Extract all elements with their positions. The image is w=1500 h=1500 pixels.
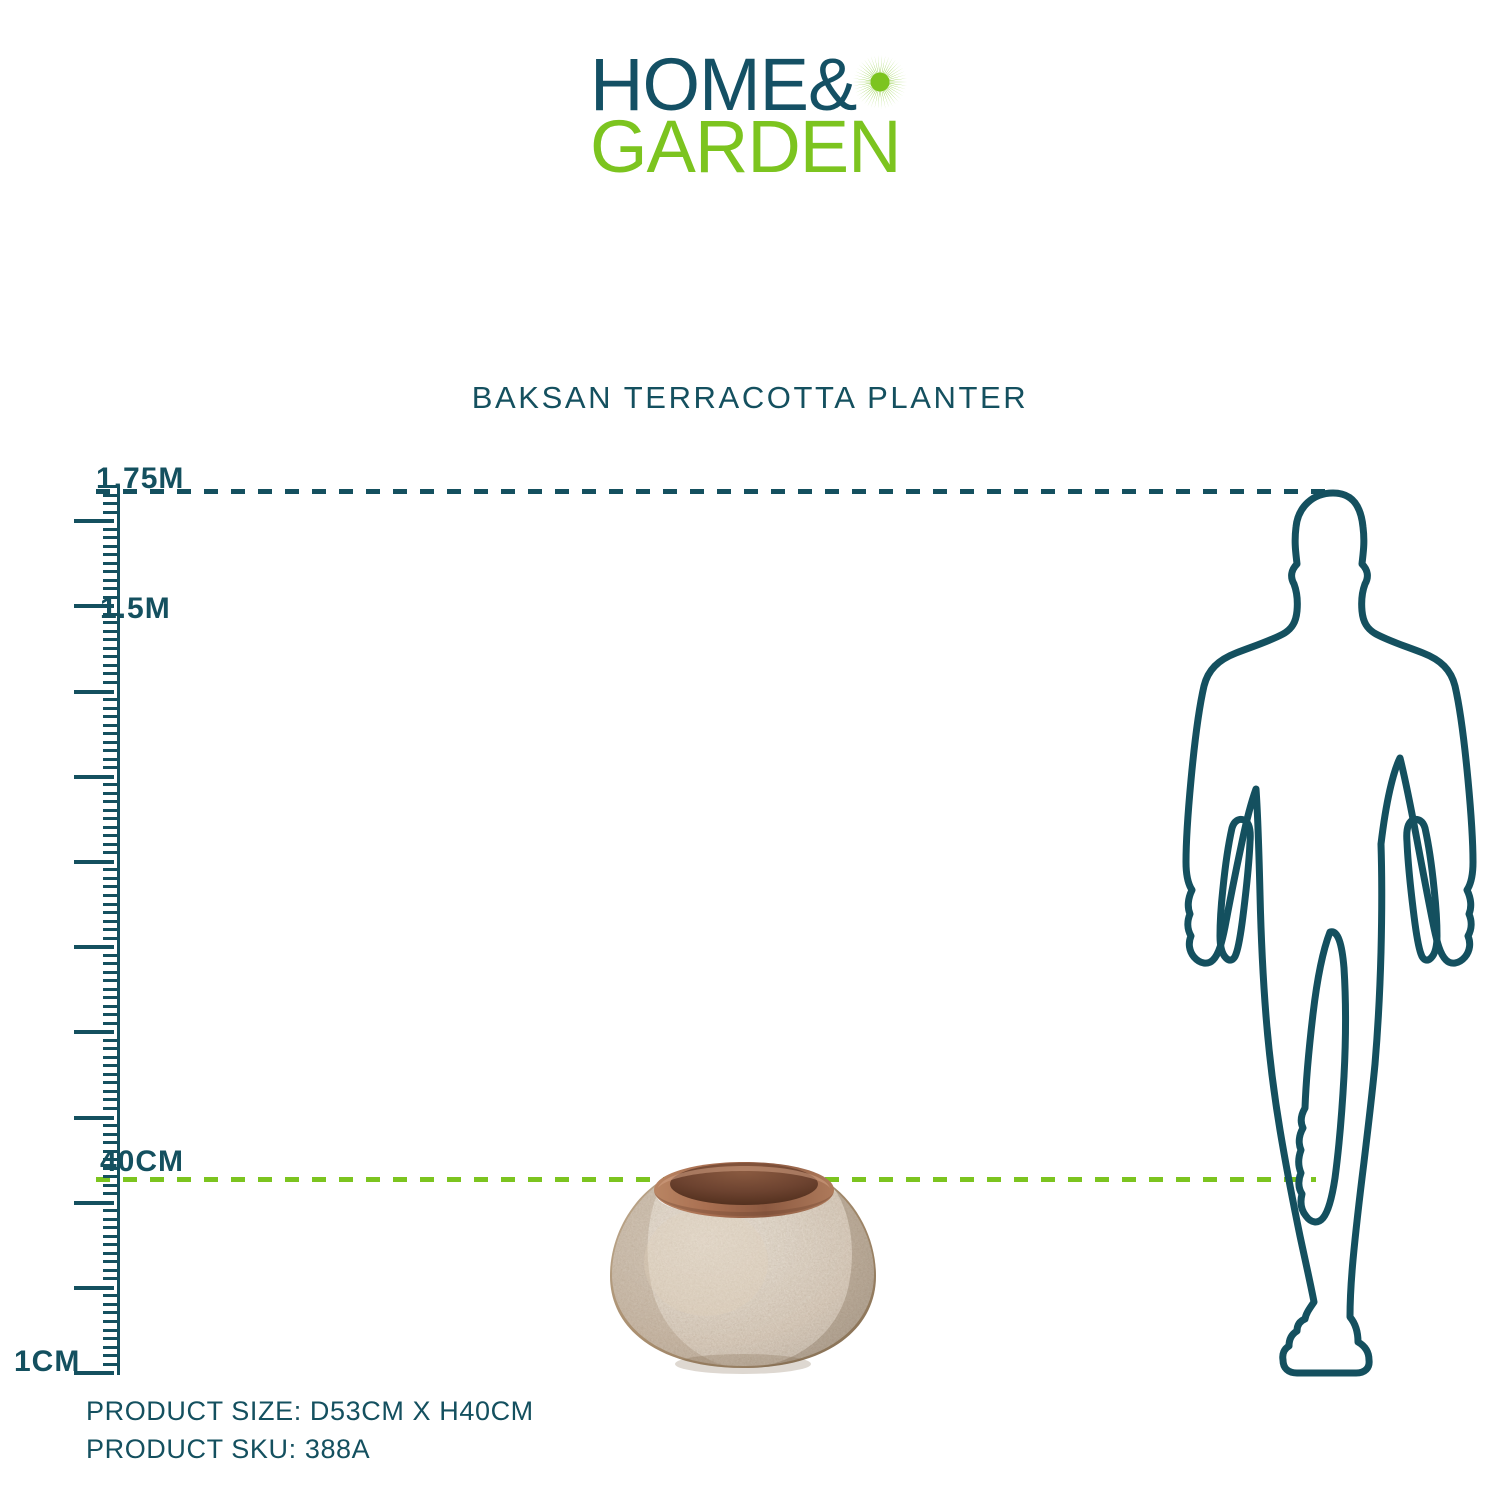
brand-name-garden: GARDEN	[590, 110, 901, 184]
ruler-tick	[103, 809, 120, 812]
ruler-tick	[103, 732, 120, 735]
ruler-tick	[103, 1013, 120, 1016]
ruler-tick	[103, 1260, 120, 1263]
ruler-tick	[103, 928, 120, 931]
ruler-tick	[103, 707, 120, 710]
ruler-tick	[103, 553, 120, 556]
product-size-text: PRODUCT SIZE: D53CM X H40CM	[86, 1392, 534, 1430]
ruler-tick	[103, 877, 120, 880]
ruler-tick	[103, 1354, 120, 1357]
ruler-tick	[103, 536, 120, 539]
ruler-tick	[103, 1329, 120, 1332]
ruler-tick	[103, 528, 120, 531]
ruler-label-40cm: 40CM	[100, 1145, 184, 1179]
ruler-tick	[103, 741, 120, 744]
ruler-tick	[103, 1209, 120, 1212]
ruler-tick	[103, 1073, 120, 1076]
ruler-tick	[103, 1294, 120, 1297]
ruler-tick	[74, 1030, 114, 1034]
ruler-tick	[74, 519, 114, 523]
ruler-tick	[103, 1192, 120, 1195]
ruler-label-1cm: 1CM	[14, 1345, 80, 1379]
ruler-tick	[103, 502, 120, 505]
ruler-tick	[103, 1277, 120, 1280]
ruler-tick	[103, 971, 120, 974]
ruler-tick	[103, 638, 120, 641]
ruler-tick	[103, 1320, 120, 1323]
ruler-tick	[103, 630, 120, 633]
ruler-tick	[103, 903, 120, 906]
ruler-tick	[103, 1107, 120, 1110]
ruler-tick	[103, 937, 120, 940]
ruler-tick	[103, 1056, 120, 1059]
ruler-tick	[103, 749, 120, 752]
ruler-tick	[74, 1286, 114, 1290]
ruler-tick	[103, 587, 120, 590]
ruler-tick	[103, 766, 120, 769]
ruler-tick	[103, 843, 120, 846]
ruler-tick	[103, 758, 120, 761]
ruler-tick	[103, 1184, 120, 1187]
ruler-tick	[103, 826, 120, 829]
human-scale-silhouette	[1170, 480, 1500, 1385]
ruler-tick	[103, 681, 120, 684]
ruler-tick	[74, 1201, 114, 1205]
ruler-tick	[103, 1243, 120, 1246]
planter-rim	[654, 1162, 834, 1218]
ruler-tick	[103, 920, 120, 923]
ruler-tick	[103, 1064, 120, 1067]
page-title: BAKSAN TERRACOTTA PLANTER	[0, 380, 1500, 416]
ruler-tick	[103, 1124, 120, 1127]
ruler-tick	[103, 511, 120, 514]
ruler-tick	[103, 1022, 120, 1025]
baksan-terracotta-planter	[598, 1150, 888, 1382]
ruler-tick	[103, 724, 120, 727]
product-details: PRODUCT SIZE: D53CM X H40CM PRODUCT SKU:…	[86, 1392, 534, 1468]
ruler-tick	[103, 672, 120, 675]
ruler-tick	[103, 715, 120, 718]
ruler-tick	[103, 1235, 120, 1238]
ruler-tick	[103, 647, 120, 650]
ruler-tick	[103, 1252, 120, 1255]
ruler-tick	[103, 1346, 120, 1349]
ruler-tick	[103, 834, 120, 837]
starburst-icon	[852, 54, 908, 110]
ruler-tick	[103, 1218, 120, 1221]
ruler-tick	[103, 996, 120, 999]
ruler-tick	[103, 698, 120, 701]
ruler-tick	[103, 954, 120, 957]
ruler-tick	[103, 664, 120, 667]
brand-logo: HOME& GARDEN	[590, 48, 930, 196]
ruler-tick	[103, 655, 120, 658]
ruler-tick	[103, 885, 120, 888]
product-sku-text: PRODUCT SKU: 388A	[86, 1430, 534, 1468]
ruler-tick	[103, 911, 120, 914]
ruler-tick	[74, 1116, 114, 1120]
ruler-tick	[103, 1269, 120, 1272]
ruler-tick	[103, 1098, 120, 1101]
ruler-tick	[103, 851, 120, 854]
ruler-label-15m: 1.5M	[100, 592, 171, 626]
ruler-tick	[103, 1047, 120, 1050]
ruler-tick	[103, 562, 120, 565]
ruler-tick	[103, 783, 120, 786]
ruler-tick	[103, 868, 120, 871]
ruler-tick	[103, 579, 120, 582]
ruler-tick	[103, 545, 120, 548]
ruler-tick	[103, 1005, 120, 1008]
scale-diagram-canvas: HOME& GARDEN BAKSAN TERRACOTTA PLANTER 1…	[0, 0, 1500, 1500]
ruler-tick	[103, 1337, 120, 1340]
ruler-tick	[103, 817, 120, 820]
ruler-tick	[103, 1133, 120, 1136]
ruler-tick	[103, 1081, 120, 1084]
ruler-tick	[103, 1311, 120, 1314]
ruler-tick	[103, 570, 120, 573]
ruler-tick	[103, 1303, 120, 1306]
ruler-tick	[103, 979, 120, 982]
ruler-tick	[103, 1039, 120, 1042]
ruler-tick	[103, 1226, 120, 1229]
ruler-tick	[74, 860, 114, 864]
ruler-tick	[103, 1090, 120, 1093]
ruler-tick	[74, 775, 114, 779]
height-reference-line-top	[96, 489, 1338, 494]
ruler-tick	[74, 945, 114, 949]
ruler-tick	[103, 792, 120, 795]
ruler-tick	[103, 800, 120, 803]
ruler-tick	[103, 962, 120, 965]
ruler-tick	[74, 690, 114, 694]
ruler-tick	[103, 1363, 120, 1366]
ruler-label-175m: 1.75M	[96, 462, 184, 496]
ruler-tick	[103, 988, 120, 991]
ruler-tick	[103, 894, 120, 897]
ruler-tick	[103, 1141, 120, 1144]
